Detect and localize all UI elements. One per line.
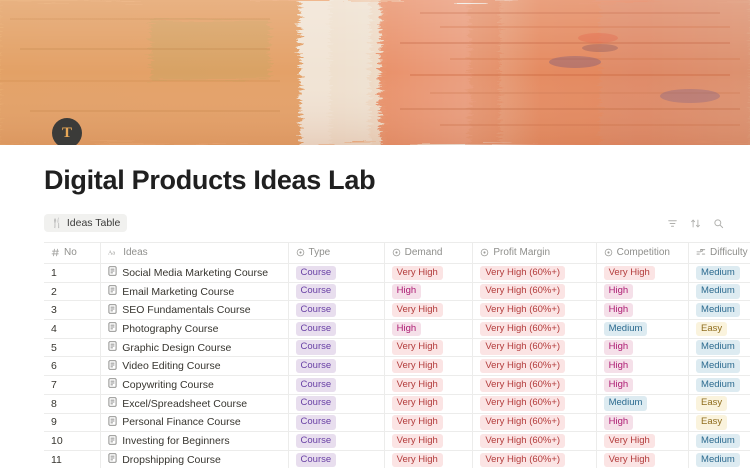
ideas-table: No Aa Ideas: [44, 242, 750, 468]
cell-demand[interactable]: Very High: [384, 450, 473, 468]
tag-demand: Very High: [392, 453, 443, 467]
sort-icon[interactable]: [690, 218, 701, 229]
cell-type[interactable]: Course: [288, 413, 384, 432]
cell-type[interactable]: Course: [288, 338, 384, 357]
table-body: 1 Social Media Marketing CourseCourseVer…: [44, 264, 750, 468]
page-icon-letter: T: [62, 126, 72, 141]
cell-type[interactable]: Course: [288, 376, 384, 395]
column-header-difficulty[interactable]: Difficulty: [689, 243, 750, 264]
table-row[interactable]: 3 SEO Fundamentals CourseCourseVery High…: [44, 301, 750, 320]
page-doc-icon: [108, 285, 117, 298]
cell-type[interactable]: Course: [288, 282, 384, 301]
tag-type: Course: [296, 396, 337, 410]
tag-difficulty: Medium: [696, 453, 740, 467]
column-header-profit-margin-label: Profit Margin: [493, 247, 550, 258]
cell-competition[interactable]: Very High: [596, 450, 688, 468]
page-icon[interactable]: T: [52, 118, 86, 145]
cell-no[interactable]: 11: [44, 450, 101, 468]
tag-demand: Very High: [392, 340, 443, 354]
cell-idea[interactable]: SEO Fundamentals Course: [101, 301, 288, 320]
tag-competition: Very High: [604, 434, 655, 448]
tag-difficulty: Medium: [696, 284, 740, 298]
cell-idea[interactable]: Email Marketing Course: [101, 282, 288, 301]
cell-no[interactable]: 1: [44, 264, 101, 283]
cell-difficulty[interactable]: Easy: [689, 413, 750, 432]
idea-title: Investing for Beginners: [122, 435, 229, 447]
cell-difficulty[interactable]: Easy: [689, 320, 750, 339]
tag-competition: High: [604, 303, 634, 317]
column-header-ideas-label: Ideas: [123, 247, 147, 258]
cell-idea[interactable]: Social Media Marketing Course: [101, 264, 288, 283]
table-row[interactable]: 10 Investing for BeginnersCourseVery Hig…: [44, 432, 750, 451]
filter-icon[interactable]: [667, 218, 678, 229]
cell-no[interactable]: 9: [44, 413, 101, 432]
tag-difficulty: Medium: [696, 359, 740, 373]
page-title[interactable]: Digital Products Ideas Lab: [44, 165, 750, 196]
cell-no[interactable]: 6: [44, 357, 101, 376]
column-header-profit-margin[interactable]: Profit Margin: [473, 243, 596, 264]
table-row[interactable]: 8 Excel/Spreadsheet CourseCourseVery Hig…: [44, 394, 750, 413]
tag-demand: Very High: [392, 396, 443, 410]
cell-demand[interactable]: Very High: [384, 394, 473, 413]
page-doc-icon: [108, 397, 117, 410]
cell-competition[interactable]: Medium: [596, 320, 688, 339]
cell-type[interactable]: Course: [288, 450, 384, 468]
fork-knife-icon: 🍴: [51, 218, 63, 229]
cell-idea[interactable]: Graphic Design Course: [101, 338, 288, 357]
column-header-no[interactable]: No: [44, 243, 101, 264]
cell-idea[interactable]: Personal Finance Course: [101, 413, 288, 432]
cell-no[interactable]: 4: [44, 320, 101, 339]
column-header-type-label: Type: [309, 247, 331, 258]
table-row[interactable]: 9 Personal Finance CourseCourseVery High…: [44, 413, 750, 432]
cover-image: [0, 0, 750, 145]
cell-no[interactable]: 7: [44, 376, 101, 395]
tag-profit-margin: Very High (60%+): [480, 396, 565, 410]
multiselect-icon: [696, 248, 706, 257]
cell-difficulty[interactable]: Medium: [689, 432, 750, 451]
cell-idea[interactable]: Video Editing Course: [101, 357, 288, 376]
cell-demand[interactable]: Very High: [384, 338, 473, 357]
cell-no[interactable]: 2: [44, 282, 101, 301]
tag-profit-margin: Very High (60%+): [480, 266, 565, 280]
tag-demand: Very High: [392, 434, 443, 448]
tag-demand: Very High: [392, 266, 443, 280]
cell-difficulty[interactable]: Medium: [689, 338, 750, 357]
cell-difficulty[interactable]: Medium: [689, 376, 750, 395]
cell-type[interactable]: Course: [288, 394, 384, 413]
column-header-type[interactable]: Type: [288, 243, 384, 264]
tag-profit-margin: Very High (60%+): [480, 359, 565, 373]
cell-idea[interactable]: Copywriting Course: [101, 376, 288, 395]
cell-profit-margin[interactable]: Very High (60%+): [473, 264, 596, 283]
table-row[interactable]: 5 Graphic Design CourseCourseVery HighVe…: [44, 338, 750, 357]
column-header-no-label: No: [64, 247, 77, 258]
view-tab-label: Ideas Table: [67, 217, 121, 229]
tag-profit-margin: Very High (60%+): [480, 284, 565, 298]
svg-text:Aa: Aa: [108, 250, 115, 256]
column-header-ideas[interactable]: Aa Ideas: [101, 243, 288, 264]
cell-competition[interactable]: High: [596, 376, 688, 395]
tag-competition: Very High: [604, 453, 655, 467]
cell-profit-margin[interactable]: Very High (60%+): [473, 413, 596, 432]
tag-type: Course: [296, 415, 337, 429]
tag-type: Course: [296, 284, 337, 298]
cell-competition[interactable]: High: [596, 413, 688, 432]
toolbar-icon-group: [667, 218, 734, 229]
idea-title: Video Editing Course: [122, 360, 220, 372]
cell-difficulty[interactable]: Medium: [689, 450, 750, 468]
page-doc-icon: [108, 341, 117, 354]
cell-type[interactable]: Course: [288, 432, 384, 451]
page-doc-icon: [108, 435, 117, 448]
tag-demand: Very High: [392, 415, 443, 429]
idea-title: Social Media Marketing Course: [122, 267, 268, 279]
cell-idea[interactable]: Investing for Beginners: [101, 432, 288, 451]
tag-competition: High: [604, 284, 634, 298]
tag-competition: High: [604, 340, 634, 354]
cell-no[interactable]: 3: [44, 301, 101, 320]
tag-profit-margin: Very High (60%+): [480, 378, 565, 392]
tag-profit-margin: Very High (60%+): [480, 434, 565, 448]
tag-difficulty: Medium: [696, 378, 740, 392]
number-icon: [51, 248, 60, 257]
select-icon: [392, 248, 401, 257]
column-header-demand-label: Demand: [405, 247, 443, 258]
cell-idea[interactable]: Excel/Spreadsheet Course: [101, 394, 288, 413]
tag-profit-margin: Very High (60%+): [480, 453, 565, 467]
tag-competition: High: [604, 359, 634, 373]
database-toolbar: 🍴 Ideas Table: [0, 210, 750, 236]
page-doc-icon: [108, 416, 117, 429]
tag-difficulty: Easy: [696, 322, 727, 336]
cell-demand[interactable]: Very High: [384, 376, 473, 395]
tag-competition: High: [604, 415, 634, 429]
tag-type: Course: [296, 378, 337, 392]
tag-demand: Very High: [392, 303, 443, 317]
cell-competition[interactable]: Very High: [596, 264, 688, 283]
cell-demand[interactable]: Very High: [384, 432, 473, 451]
cell-demand[interactable]: Very High: [384, 413, 473, 432]
cell-type[interactable]: Course: [288, 320, 384, 339]
column-header-competition-label: Competition: [617, 247, 670, 258]
idea-title: Graphic Design Course: [122, 342, 231, 354]
idea-title: Personal Finance Course: [122, 416, 240, 428]
cell-difficulty[interactable]: Medium: [689, 357, 750, 376]
cell-profit-margin[interactable]: Very High (60%+): [473, 376, 596, 395]
view-tab-ideas-table[interactable]: 🍴 Ideas Table: [44, 214, 127, 232]
page-body: Digital Products Ideas Lab 🍴 Ideas Table: [0, 165, 750, 468]
tag-type: Course: [296, 340, 337, 354]
column-header-difficulty-label: Difficulty: [710, 247, 748, 258]
page-doc-icon: [108, 322, 117, 335]
search-icon[interactable]: [713, 218, 724, 229]
database-table-scroll[interactable]: No Aa Ideas: [0, 242, 750, 468]
cell-difficulty[interactable]: Medium: [689, 264, 750, 283]
text-icon: Aa: [108, 248, 119, 257]
tag-type: Course: [296, 266, 337, 280]
page-doc-icon: [108, 304, 117, 317]
cell-competition[interactable]: High: [596, 301, 688, 320]
cell-profit-margin[interactable]: Very High (60%+): [473, 282, 596, 301]
page-doc-icon: [108, 453, 117, 466]
cell-competition[interactable]: High: [596, 357, 688, 376]
table-row[interactable]: 7 Copywriting CourseCourseVery HighVery …: [44, 376, 750, 395]
cell-idea[interactable]: Dropshipping Course: [101, 450, 288, 468]
table-row[interactable]: 6 Video Editing CourseCourseVery HighVer…: [44, 357, 750, 376]
table-row[interactable]: 2 Email Marketing CourseCourseHighVery H…: [44, 282, 750, 301]
tag-competition: High: [604, 378, 634, 392]
tag-competition: Medium: [604, 322, 648, 336]
cell-demand[interactable]: Very High: [384, 357, 473, 376]
tag-competition: Medium: [604, 396, 648, 410]
tag-type: Course: [296, 453, 337, 467]
tag-difficulty: Easy: [696, 415, 727, 429]
idea-title: SEO Fundamentals Course: [122, 304, 250, 316]
table-row[interactable]: 1 Social Media Marketing CourseCourseVer…: [44, 264, 750, 283]
lightbulb-icon: T: [52, 118, 82, 145]
tag-profit-margin: Very High (60%+): [480, 322, 565, 336]
cell-profit-margin[interactable]: Very High (60%+): [473, 394, 596, 413]
tag-demand: High: [392, 284, 422, 298]
idea-title: Email Marketing Course: [122, 286, 234, 298]
cell-no[interactable]: 8: [44, 394, 101, 413]
cell-type[interactable]: Course: [288, 264, 384, 283]
select-icon: [480, 248, 489, 257]
tag-type: Course: [296, 303, 337, 317]
table-row[interactable]: 4 Photography CourseCourseHighVery High …: [44, 320, 750, 339]
cell-demand[interactable]: High: [384, 320, 473, 339]
idea-title: Dropshipping Course: [122, 454, 221, 466]
cell-type[interactable]: Course: [288, 357, 384, 376]
table-header-row: No Aa Ideas: [44, 243, 750, 264]
page-cover[interactable]: T: [0, 0, 750, 145]
idea-title: Photography Course: [122, 323, 218, 335]
idea-title: Copywriting Course: [122, 379, 214, 391]
cell-profit-margin[interactable]: Very High (60%+): [473, 357, 596, 376]
cell-competition[interactable]: Very High: [596, 432, 688, 451]
column-header-competition[interactable]: Competition: [596, 243, 688, 264]
tag-profit-margin: Very High (60%+): [480, 303, 565, 317]
cell-difficulty[interactable]: Medium: [689, 301, 750, 320]
cell-demand[interactable]: Very High: [384, 301, 473, 320]
cell-idea[interactable]: Photography Course: [101, 320, 288, 339]
cell-profit-margin[interactable]: Very High (60%+): [473, 320, 596, 339]
tag-difficulty: Medium: [696, 266, 740, 280]
cell-demand[interactable]: Very High: [384, 264, 473, 283]
tag-demand: High: [392, 322, 422, 336]
idea-title: Excel/Spreadsheet Course: [122, 398, 247, 410]
tag-difficulty: Easy: [696, 396, 727, 410]
select-icon: [296, 248, 305, 257]
cell-competition[interactable]: High: [596, 338, 688, 357]
cell-profit-margin[interactable]: Very High (60%+): [473, 450, 596, 468]
cell-no[interactable]: 10: [44, 432, 101, 451]
cell-competition[interactable]: High: [596, 282, 688, 301]
page-doc-icon: [108, 378, 117, 391]
tag-demand: Very High: [392, 359, 443, 373]
tag-profit-margin: Very High (60%+): [480, 340, 565, 354]
cell-demand[interactable]: High: [384, 282, 473, 301]
cell-type[interactable]: Course: [288, 301, 384, 320]
tag-difficulty: Medium: [696, 303, 740, 317]
cell-competition[interactable]: Medium: [596, 394, 688, 413]
cell-profit-margin[interactable]: Very High (60%+): [473, 432, 596, 451]
column-header-demand[interactable]: Demand: [384, 243, 473, 264]
tag-difficulty: Medium: [696, 340, 740, 354]
cell-profit-margin[interactable]: Very High (60%+): [473, 301, 596, 320]
tag-type: Course: [296, 434, 337, 448]
tag-difficulty: Medium: [696, 434, 740, 448]
page-doc-icon: [108, 266, 117, 279]
tag-competition: Very High: [604, 266, 655, 280]
tag-demand: Very High: [392, 378, 443, 392]
cell-no[interactable]: 5: [44, 338, 101, 357]
cell-profit-margin[interactable]: Very High (60%+): [473, 338, 596, 357]
table-row[interactable]: 11 Dropshipping CourseCourseVery HighVer…: [44, 450, 750, 468]
select-icon: [604, 248, 613, 257]
tag-profit-margin: Very High (60%+): [480, 415, 565, 429]
cell-difficulty[interactable]: Medium: [689, 282, 750, 301]
tag-type: Course: [296, 359, 337, 373]
cell-difficulty[interactable]: Easy: [689, 394, 750, 413]
tag-type: Course: [296, 322, 337, 336]
page-doc-icon: [108, 360, 117, 373]
